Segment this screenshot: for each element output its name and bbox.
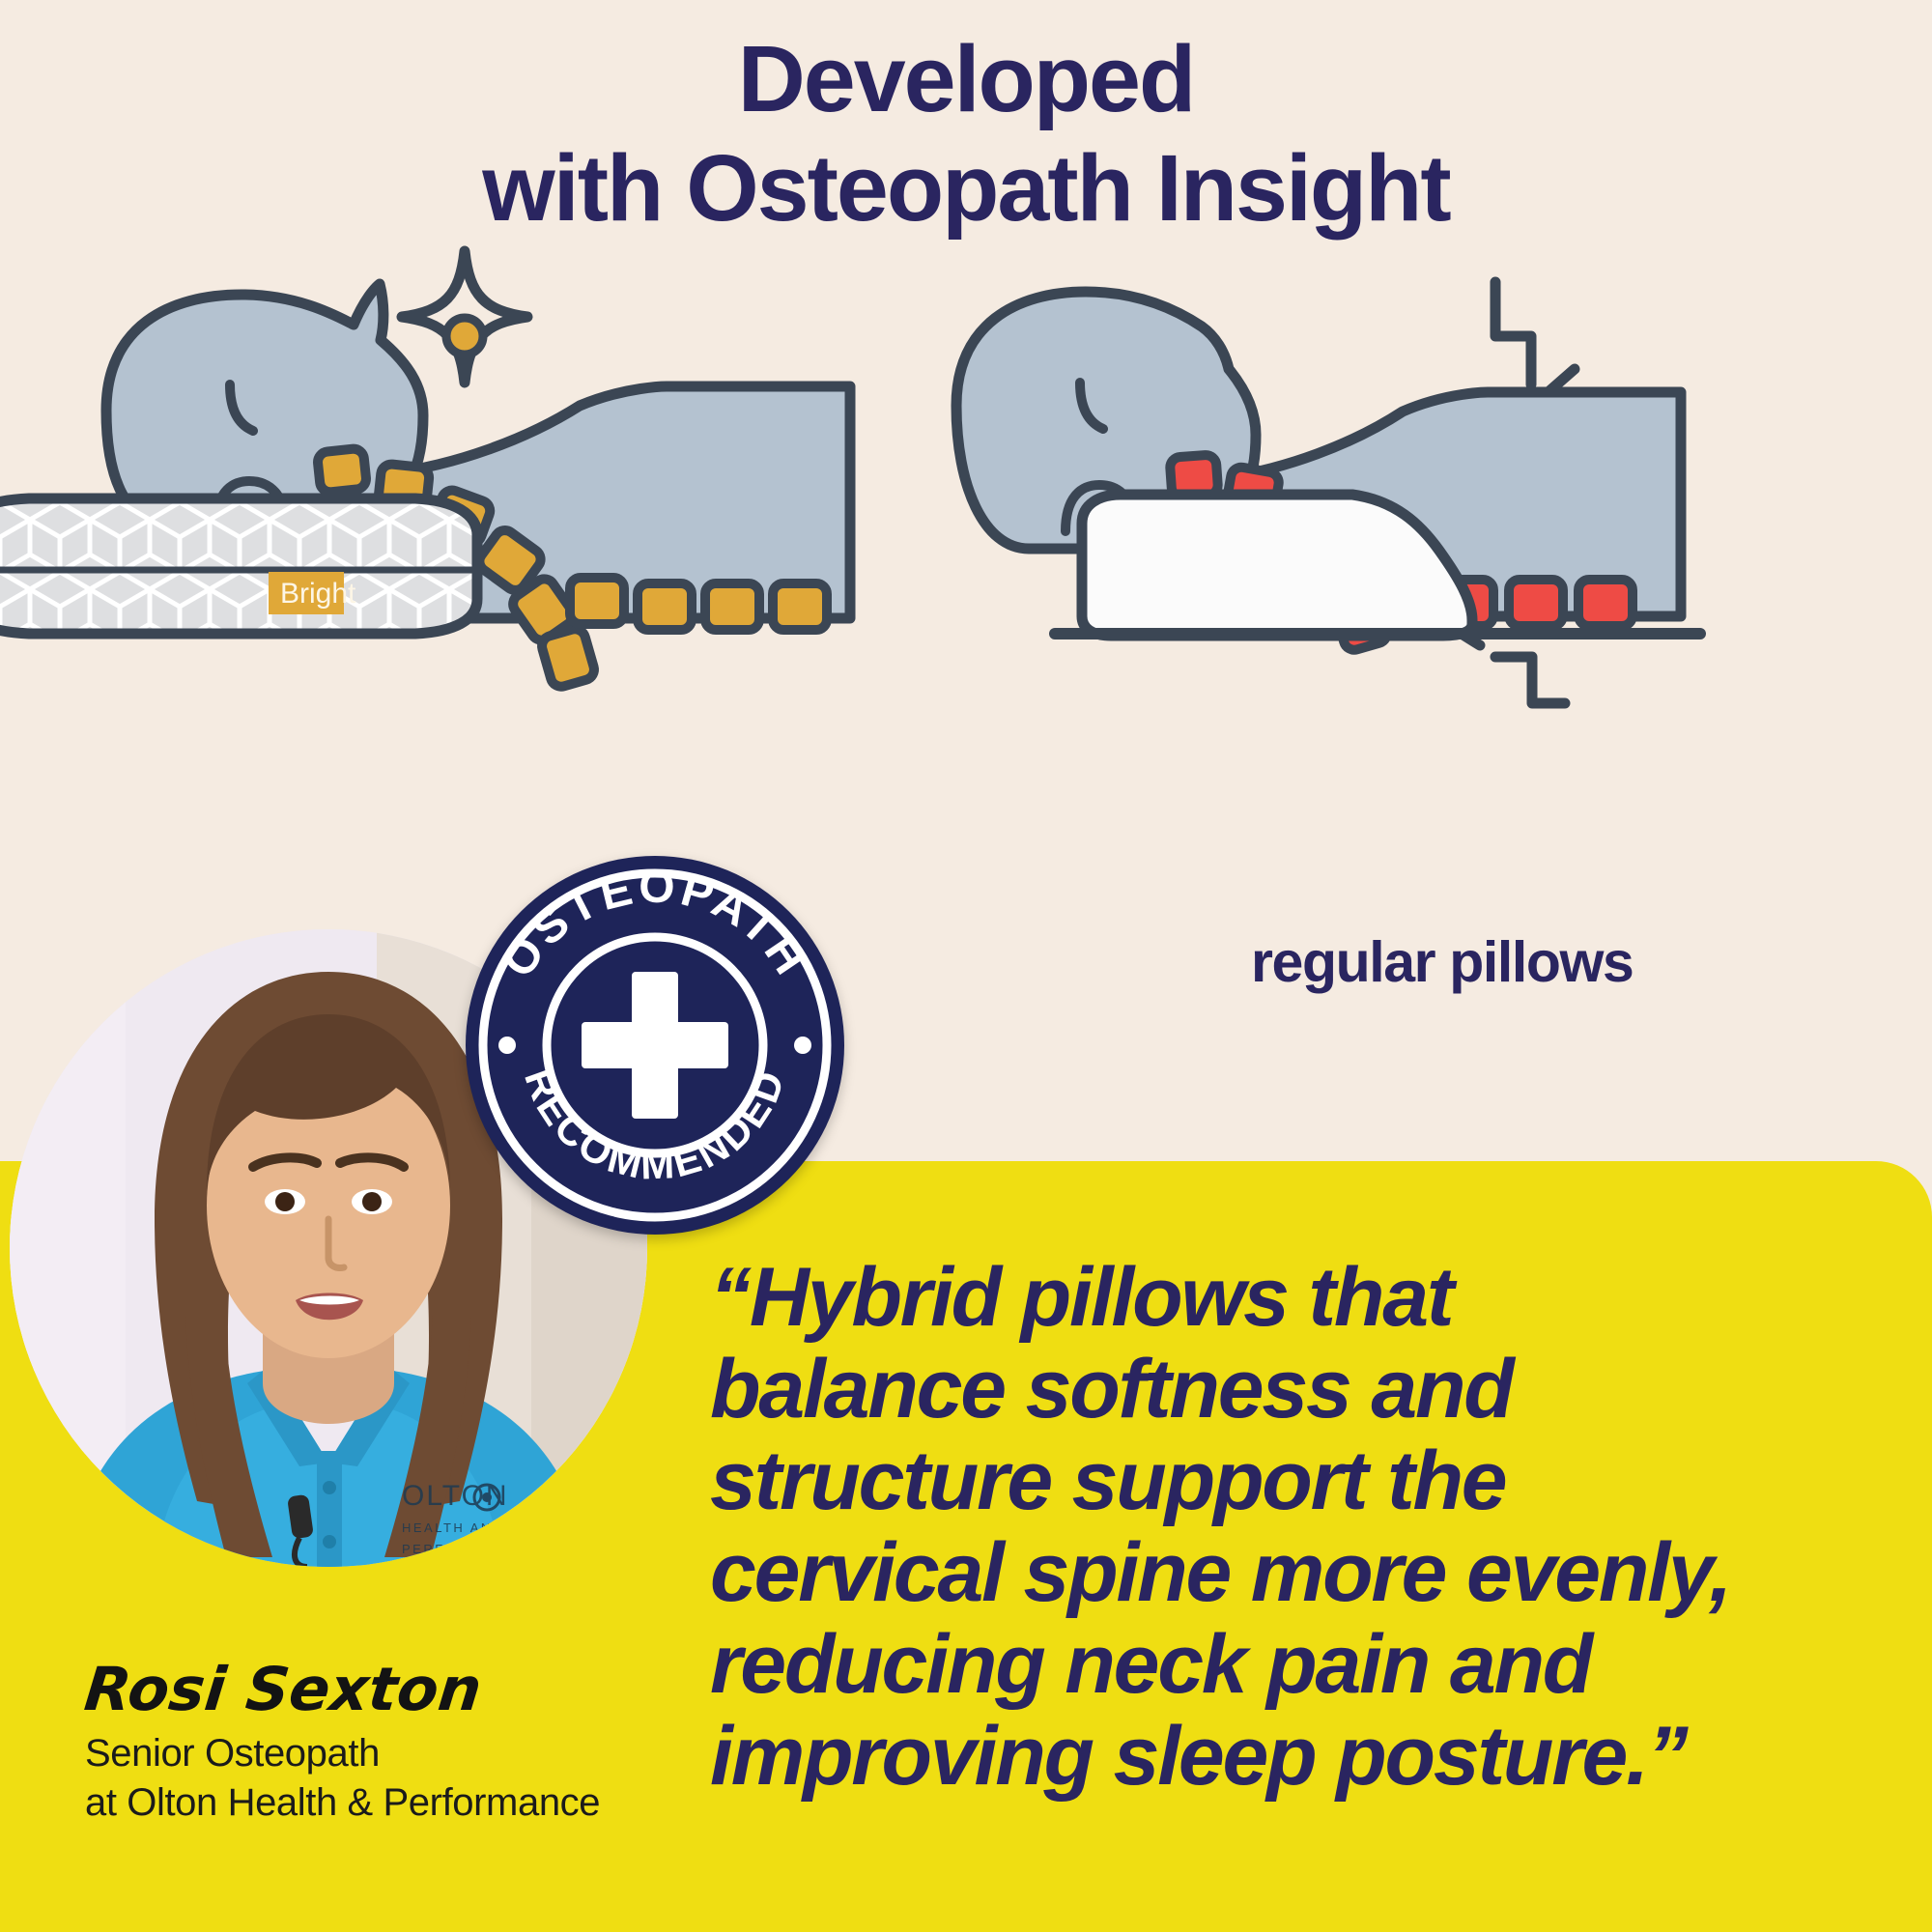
bright-tag-label: Bright	[280, 578, 356, 610]
dot-icon	[446, 318, 483, 355]
poster-canvas: Developed with Osteopath Insight	[0, 0, 1932, 1932]
bright-tag: Bright	[269, 572, 356, 614]
status-badge: OSTEOPATH RECOMMENDED	[462, 852, 848, 1238]
quote-open-mark: “	[710, 1251, 750, 1344]
left-scene: Bright	[0, 251, 850, 689]
right-pillow	[1082, 495, 1472, 636]
right-scene	[956, 282, 1700, 703]
page-title: Developed with Osteopath Insight	[0, 25, 1932, 242]
left-pillow	[0, 498, 477, 634]
comparison-illustration: Bright	[0, 241, 1932, 937]
attribution-affiliation: at Olton Health & Performance	[85, 1778, 684, 1828]
badge-dot-right	[794, 1037, 811, 1054]
quote-text: “Hybrid pillows that balance softness an…	[710, 1252, 1898, 1803]
attribution-role: Senior Osteopath	[85, 1729, 684, 1778]
attribution-name: Rosi Sexton	[82, 1660, 485, 1719]
quote-body: Hybrid pillows that balance softness and…	[710, 1251, 1730, 1803]
regular-pillows-caption: regular pillows	[1251, 929, 1633, 995]
badge-dot-left	[498, 1037, 516, 1054]
zigzag-pain-icon-top	[1495, 282, 1575, 396]
attribution: Rosi Sexton Senior Osteopath at Olton He…	[85, 1660, 684, 1828]
quote-close-mark: ”	[1647, 1710, 1687, 1803]
